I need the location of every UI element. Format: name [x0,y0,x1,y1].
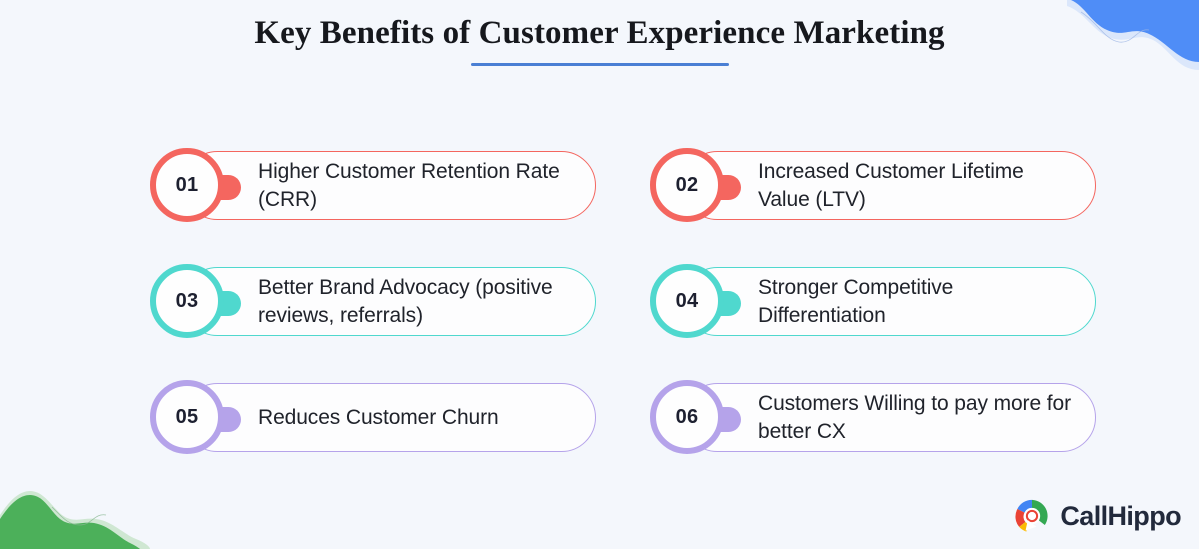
card-label: Customers Willing to pay more for better… [758,390,1078,446]
card-number: 06 [676,406,699,429]
benefit-card-01[interactable]: 01 Higher Customer Retention Rate (CRR) [150,148,596,223]
card-label: Reduces Customer Churn [258,404,499,432]
page-title: Key Benefits of Customer Experience Mark… [0,14,1199,54]
card-text-wrap: Stronger Competitive Differentiation [758,264,1078,339]
benefit-card-06[interactable]: 06 Customers Willing to pay more for bet… [650,380,1096,455]
callhippo-logo-mark [1013,497,1051,535]
card-number-circle: 06 [650,380,724,454]
benefits-list: 01 Higher Customer Retention Rate (CRR) … [150,148,1096,455]
benefit-card-04[interactable]: 04 Stronger Competitive Differentiation [650,264,1096,339]
card-text-wrap: Increased Customer Lifetime Value (LTV) [758,148,1078,223]
infographic-canvas: Key Benefits of Customer Experience Mark… [0,0,1199,549]
card-text-wrap: Better Brand Advocacy (positive reviews,… [258,264,578,339]
card-label: Higher Customer Retention Rate (CRR) [258,158,578,214]
card-number-circle: 01 [150,148,224,222]
card-text-wrap: Customers Willing to pay more for better… [758,380,1078,455]
card-number: 03 [176,290,199,313]
callhippo-logo[interactable]: CallHippo [1013,497,1181,535]
card-number: 01 [176,174,199,197]
card-label: Increased Customer Lifetime Value (LTV) [758,158,1078,214]
title-block: Key Benefits of Customer Experience Mark… [0,14,1199,66]
card-text-wrap: Reduces Customer Churn [258,380,578,455]
card-label: Stronger Competitive Differentiation [758,274,1078,330]
card-text-wrap: Higher Customer Retention Rate (CRR) [258,148,578,223]
callhippo-logo-text: CallHippo [1060,501,1181,532]
card-number-circle: 05 [150,380,224,454]
card-number: 02 [676,174,699,197]
card-number-circle: 03 [150,264,224,338]
card-number: 05 [176,406,199,429]
benefit-card-02[interactable]: 02 Increased Customer Lifetime Value (LT… [650,148,1096,223]
card-label: Better Brand Advocacy (positive reviews,… [258,274,578,330]
card-number-circle: 02 [650,148,724,222]
card-number-circle: 04 [650,264,724,338]
benefit-card-03[interactable]: 03 Better Brand Advocacy (positive revie… [150,264,596,339]
title-underline [471,63,729,66]
green-wave-decoration [0,469,190,549]
benefit-card-05[interactable]: 05 Reduces Customer Churn [150,380,596,455]
card-number: 04 [676,290,699,313]
